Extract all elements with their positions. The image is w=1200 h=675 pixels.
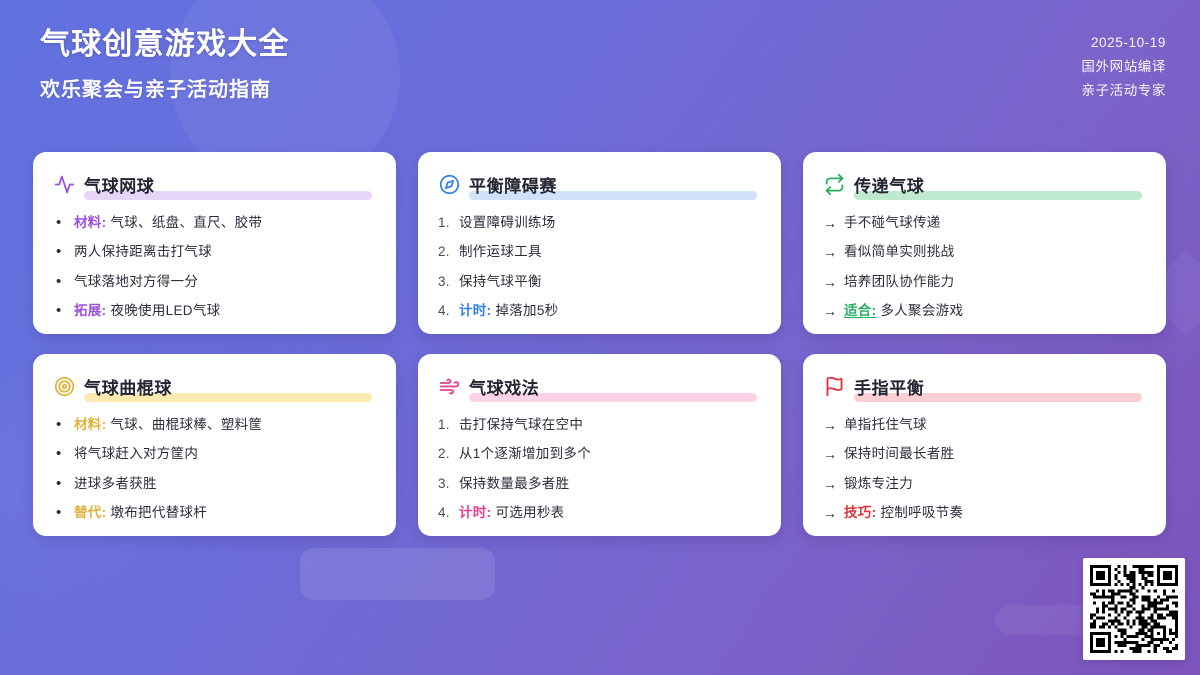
list-item-text: 看似简单实则挑战 xyxy=(844,244,954,259)
card-item-list: →手不碰气球传递→看似简单实则挑战→培养团队协作能力→适合: 多人聚会游戏 xyxy=(823,213,1146,321)
list-marker-num: 3. xyxy=(438,474,450,494)
list-item-highlight: 替代: xyxy=(74,505,106,520)
list-item-text: 单指托住气球 xyxy=(844,417,927,432)
list-item-text: 设置障碍训练场 xyxy=(459,215,556,230)
list-marker-arrow: → xyxy=(823,213,837,234)
activity-pulse-icon xyxy=(53,174,75,196)
list-item: •进球多者获胜 xyxy=(53,474,376,494)
page-title: 气球创意游戏大全 xyxy=(40,26,290,64)
page-subtitle: 欢乐聚会与亲子活动指南 xyxy=(40,77,290,103)
list-item: •气球落地对方得一分 xyxy=(53,272,376,292)
meta-date: 2025-10-19 xyxy=(1091,34,1166,52)
list-item: 3.保持数量最多者胜 xyxy=(438,474,761,494)
list-item-text: 制作运球工具 xyxy=(459,244,542,259)
card-title: 手指平衡 xyxy=(854,379,924,398)
card-title: 气球网球 xyxy=(84,177,154,196)
list-marker-bullet: • xyxy=(56,213,62,233)
list-marker-arrow: → xyxy=(823,415,837,436)
card-header: 气球曲棍球 xyxy=(53,374,376,401)
header-left: 气球创意游戏大全 欢乐聚会与亲子活动指南 xyxy=(40,26,290,103)
card-header: 平衡障碍赛 xyxy=(438,172,761,199)
list-item: 1.设置障碍训练场 xyxy=(438,213,761,233)
list-item-text: 墩布把代替球杆 xyxy=(106,505,207,520)
list-marker-arrow: → xyxy=(823,503,837,524)
card-item-list: 1.击打保持气球在空中2.从1个逐渐增加到多个3.保持数量最多者胜4.计时: 可… xyxy=(438,415,761,523)
list-item-highlight: 计时: xyxy=(459,505,491,520)
list-item: →保持时间最长者胜 xyxy=(823,444,1146,464)
card-title: 平衡障碍赛 xyxy=(469,177,557,196)
list-item: •拓展: 夜晚使用LED气球 xyxy=(53,301,376,321)
card-finger-balance[interactable]: 手指平衡→单指托住气球→保持时间最长者胜→锻炼专注力→技巧: 控制呼吸节奏 xyxy=(803,354,1166,536)
card-pass-the-balloon[interactable]: 传递气球→手不碰气球传递→看似简单实则挑战→培养团队协作能力→适合: 多人聚会游… xyxy=(803,152,1166,334)
list-marker-arrow: → xyxy=(823,301,837,322)
list-marker-bullet: • xyxy=(56,272,62,292)
qr-code-image xyxy=(1090,565,1178,653)
list-marker-num: 1. xyxy=(438,213,450,233)
list-item-text: 多人聚会游戏 xyxy=(876,303,963,318)
repeat-refresh-icon xyxy=(823,174,845,196)
list-marker-bullet: • xyxy=(56,444,62,464)
list-item-text: 手不碰气球传递 xyxy=(844,215,941,230)
qr-code[interactable] xyxy=(1083,558,1185,660)
list-item: 2.从1个逐渐增加到多个 xyxy=(438,444,761,464)
list-item: →手不碰气球传递 xyxy=(823,213,1146,233)
card-balloon-hockey[interactable]: 气球曲棍球•材料: 气球、曲棍球棒、塑料筐•将气球赶入对方筐内•进球多者获胜•替… xyxy=(33,354,396,536)
list-item-text: 气球、曲棍球棒、塑料筐 xyxy=(106,417,262,432)
list-item-highlight: 拓展: xyxy=(74,303,106,318)
target-bullseye-icon xyxy=(53,376,75,398)
list-item: 2.制作运球工具 xyxy=(438,242,761,262)
card-title: 气球戏法 xyxy=(469,379,539,398)
list-marker-num: 2. xyxy=(438,242,450,262)
card-header: 手指平衡 xyxy=(823,374,1146,401)
meta-author: 亲子活动专家 xyxy=(1081,82,1166,100)
list-item-text: 保持数量最多者胜 xyxy=(459,476,569,491)
list-item: →锻炼专注力 xyxy=(823,474,1146,494)
flag-icon xyxy=(823,376,845,398)
card-header: 气球戏法 xyxy=(438,374,761,401)
card-title: 气球曲棍球 xyxy=(84,379,172,398)
list-item: 4.计时: 可选用秒表 xyxy=(438,503,761,523)
list-item-text: 可选用秒表 xyxy=(491,505,564,520)
list-item: 4.计时: 掉落加5秒 xyxy=(438,301,761,321)
list-item: 1.击打保持气球在空中 xyxy=(438,415,761,435)
list-marker-bullet: • xyxy=(56,242,62,262)
list-item-text: 锻炼专注力 xyxy=(844,476,913,491)
card-item-list: 1.设置障碍训练场2.制作运球工具3.保持气球平衡4.计时: 掉落加5秒 xyxy=(438,213,761,321)
list-item-text: 两人保持距离击打气球 xyxy=(74,244,212,259)
card-header: 气球网球 xyxy=(53,172,376,199)
list-item: →看似简单实则挑战 xyxy=(823,242,1146,262)
list-item: •将气球赶入对方筐内 xyxy=(53,444,376,464)
list-item-text: 将气球赶入对方筐内 xyxy=(74,446,198,461)
list-marker-num: 3. xyxy=(438,272,450,292)
card-item-list: •材料: 气球、纸盘、直尺、胶带•两人保持距离击打气球•气球落地对方得一分•拓展… xyxy=(53,213,376,321)
list-item: •替代: 墩布把代替球杆 xyxy=(53,503,376,523)
list-item: •材料: 气球、纸盘、直尺、胶带 xyxy=(53,213,376,233)
list-marker-bullet: • xyxy=(56,503,62,523)
list-item-highlight: 适合: xyxy=(844,303,876,318)
card-header: 传递气球 xyxy=(823,172,1146,199)
list-item-highlight: 材料: xyxy=(74,215,106,230)
list-marker-num: 2. xyxy=(438,444,450,464)
card-item-list: •材料: 气球、曲棍球棒、塑料筐•将气球赶入对方筐内•进球多者获胜•替代: 墩布… xyxy=(53,415,376,523)
list-marker-num: 1. xyxy=(438,415,450,435)
card-balance-obstacle-race[interactable]: 平衡障碍赛1.设置障碍训练场2.制作运球工具3.保持气球平衡4.计时: 掉落加5… xyxy=(418,152,781,334)
card-item-list: →单指托住气球→保持时间最长者胜→锻炼专注力→技巧: 控制呼吸节奏 xyxy=(823,415,1146,523)
list-item: →培养团队协作能力 xyxy=(823,272,1146,292)
card-title: 传递气球 xyxy=(854,177,924,196)
list-item-highlight: 计时: xyxy=(459,303,491,318)
page-header: 气球创意游戏大全 欢乐聚会与亲子活动指南 2025-10-19 国外网站编译 亲… xyxy=(0,0,1200,140)
list-item: •材料: 气球、曲棍球棒、塑料筐 xyxy=(53,415,376,435)
list-item-text: 培养团队协作能力 xyxy=(844,274,954,289)
list-item-text: 保持气球平衡 xyxy=(459,274,542,289)
card-balloon-tennis[interactable]: 气球网球•材料: 气球、纸盘、直尺、胶带•两人保持距离击打气球•气球落地对方得一… xyxy=(33,152,396,334)
list-item-text: 控制呼吸节奏 xyxy=(876,505,963,520)
list-item-text: 掉落加5秒 xyxy=(491,303,558,318)
list-marker-arrow: → xyxy=(823,474,837,495)
list-marker-arrow: → xyxy=(823,242,837,263)
list-item-text: 气球落地对方得一分 xyxy=(74,274,198,289)
list-item-highlight: 材料: xyxy=(74,417,106,432)
list-item: 3.保持气球平衡 xyxy=(438,272,761,292)
list-item: →适合: 多人聚会游戏 xyxy=(823,301,1146,321)
list-marker-bullet: • xyxy=(56,415,62,435)
list-item-text: 击打保持气球在空中 xyxy=(459,417,583,432)
list-item-text: 保持时间最长者胜 xyxy=(844,446,954,461)
card-grid: 气球网球•材料: 气球、纸盘、直尺、胶带•两人保持距离击打气球•气球落地对方得一… xyxy=(33,152,1167,536)
list-item: •两人保持距离击打气球 xyxy=(53,242,376,262)
list-item-text: 夜晚使用LED气球 xyxy=(106,303,220,318)
meta-source: 国外网站编译 xyxy=(1081,58,1166,76)
header-meta: 2025-10-19 国外网站编译 亲子活动专家 xyxy=(1081,26,1166,101)
decoration-rect-left xyxy=(300,548,495,600)
list-marker-num: 4. xyxy=(438,503,450,523)
list-item: →技巧: 控制呼吸节奏 xyxy=(823,503,1146,523)
card-balloon-juggling[interactable]: 气球戏法1.击打保持气球在空中2.从1个逐渐增加到多个3.保持数量最多者胜4.计… xyxy=(418,354,781,536)
list-item-text: 进球多者获胜 xyxy=(74,476,157,491)
list-item-text: 从1个逐渐增加到多个 xyxy=(459,446,591,461)
list-marker-arrow: → xyxy=(823,272,837,293)
list-item: →单指托住气球 xyxy=(823,415,1146,435)
list-marker-bullet: • xyxy=(56,474,62,494)
list-item-highlight: 技巧: xyxy=(844,505,876,520)
wind-icon xyxy=(438,376,460,398)
list-marker-arrow: → xyxy=(823,444,837,465)
slide-root: 气球创意游戏大全 欢乐聚会与亲子活动指南 2025-10-19 国外网站编译 亲… xyxy=(0,0,1200,675)
list-marker-num: 4. xyxy=(438,301,450,321)
list-marker-bullet: • xyxy=(56,301,62,321)
list-item-text: 气球、纸盘、直尺、胶带 xyxy=(106,215,262,230)
compass-icon xyxy=(438,174,460,196)
